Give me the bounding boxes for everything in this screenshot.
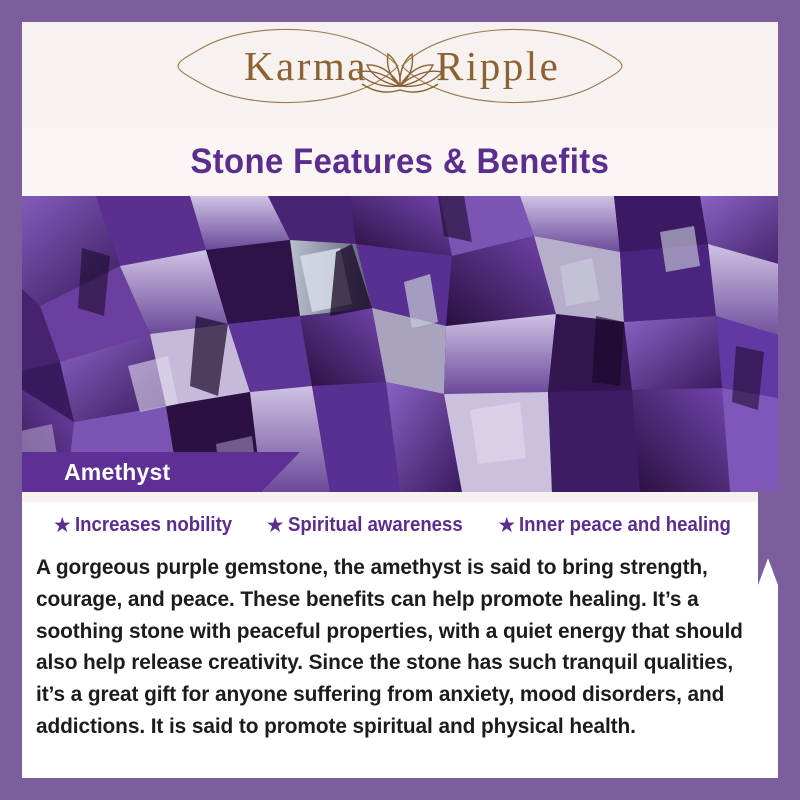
brand-logo: Karma Ripple [0, 24, 800, 108]
frame-border-bottom [0, 778, 800, 800]
brand-logo-graphic: Karma Ripple [140, 24, 660, 108]
frame-border-left [0, 0, 22, 800]
feature-item: ★ Inner peace and healing [497, 514, 747, 537]
content-top-strip [22, 492, 778, 502]
lotus-icon [358, 54, 442, 92]
star-icon: ★ [53, 515, 72, 536]
brand-name-right: Ripple [436, 43, 560, 89]
content-area: ★ Increases nobility ★ Spiritual awarene… [22, 492, 778, 778]
stone-photo [0, 196, 800, 492]
stone-description: A gorgeous purple gemstone, the amethyst… [36, 552, 744, 743]
feature-label: Inner peace and healing [519, 514, 731, 537]
feature-list: ★ Increases nobility ★ Spiritual awarene… [22, 514, 778, 537]
stone-name-banner: Amethyst [22, 452, 300, 492]
feature-item: ★ Increases nobility [53, 514, 244, 537]
feature-label: Spiritual awareness [288, 514, 463, 537]
stone-photo-graphic [0, 196, 800, 492]
star-icon: ★ [266, 515, 285, 536]
star-icon: ★ [497, 515, 516, 536]
feature-item: ★ Spiritual awareness [266, 514, 476, 537]
brand-name-left: Karma [244, 43, 368, 89]
frame-border-top [0, 0, 800, 22]
feature-label: Increases nobility [75, 514, 232, 537]
title-band: Stone Features & Benefits [22, 128, 778, 196]
page-title: Stone Features & Benefits [191, 142, 610, 182]
product-infographic: Karma Ripple Stone Features & Benefits [0, 0, 800, 800]
stone-name: Amethyst [64, 459, 170, 486]
frame-border-right [778, 0, 800, 800]
